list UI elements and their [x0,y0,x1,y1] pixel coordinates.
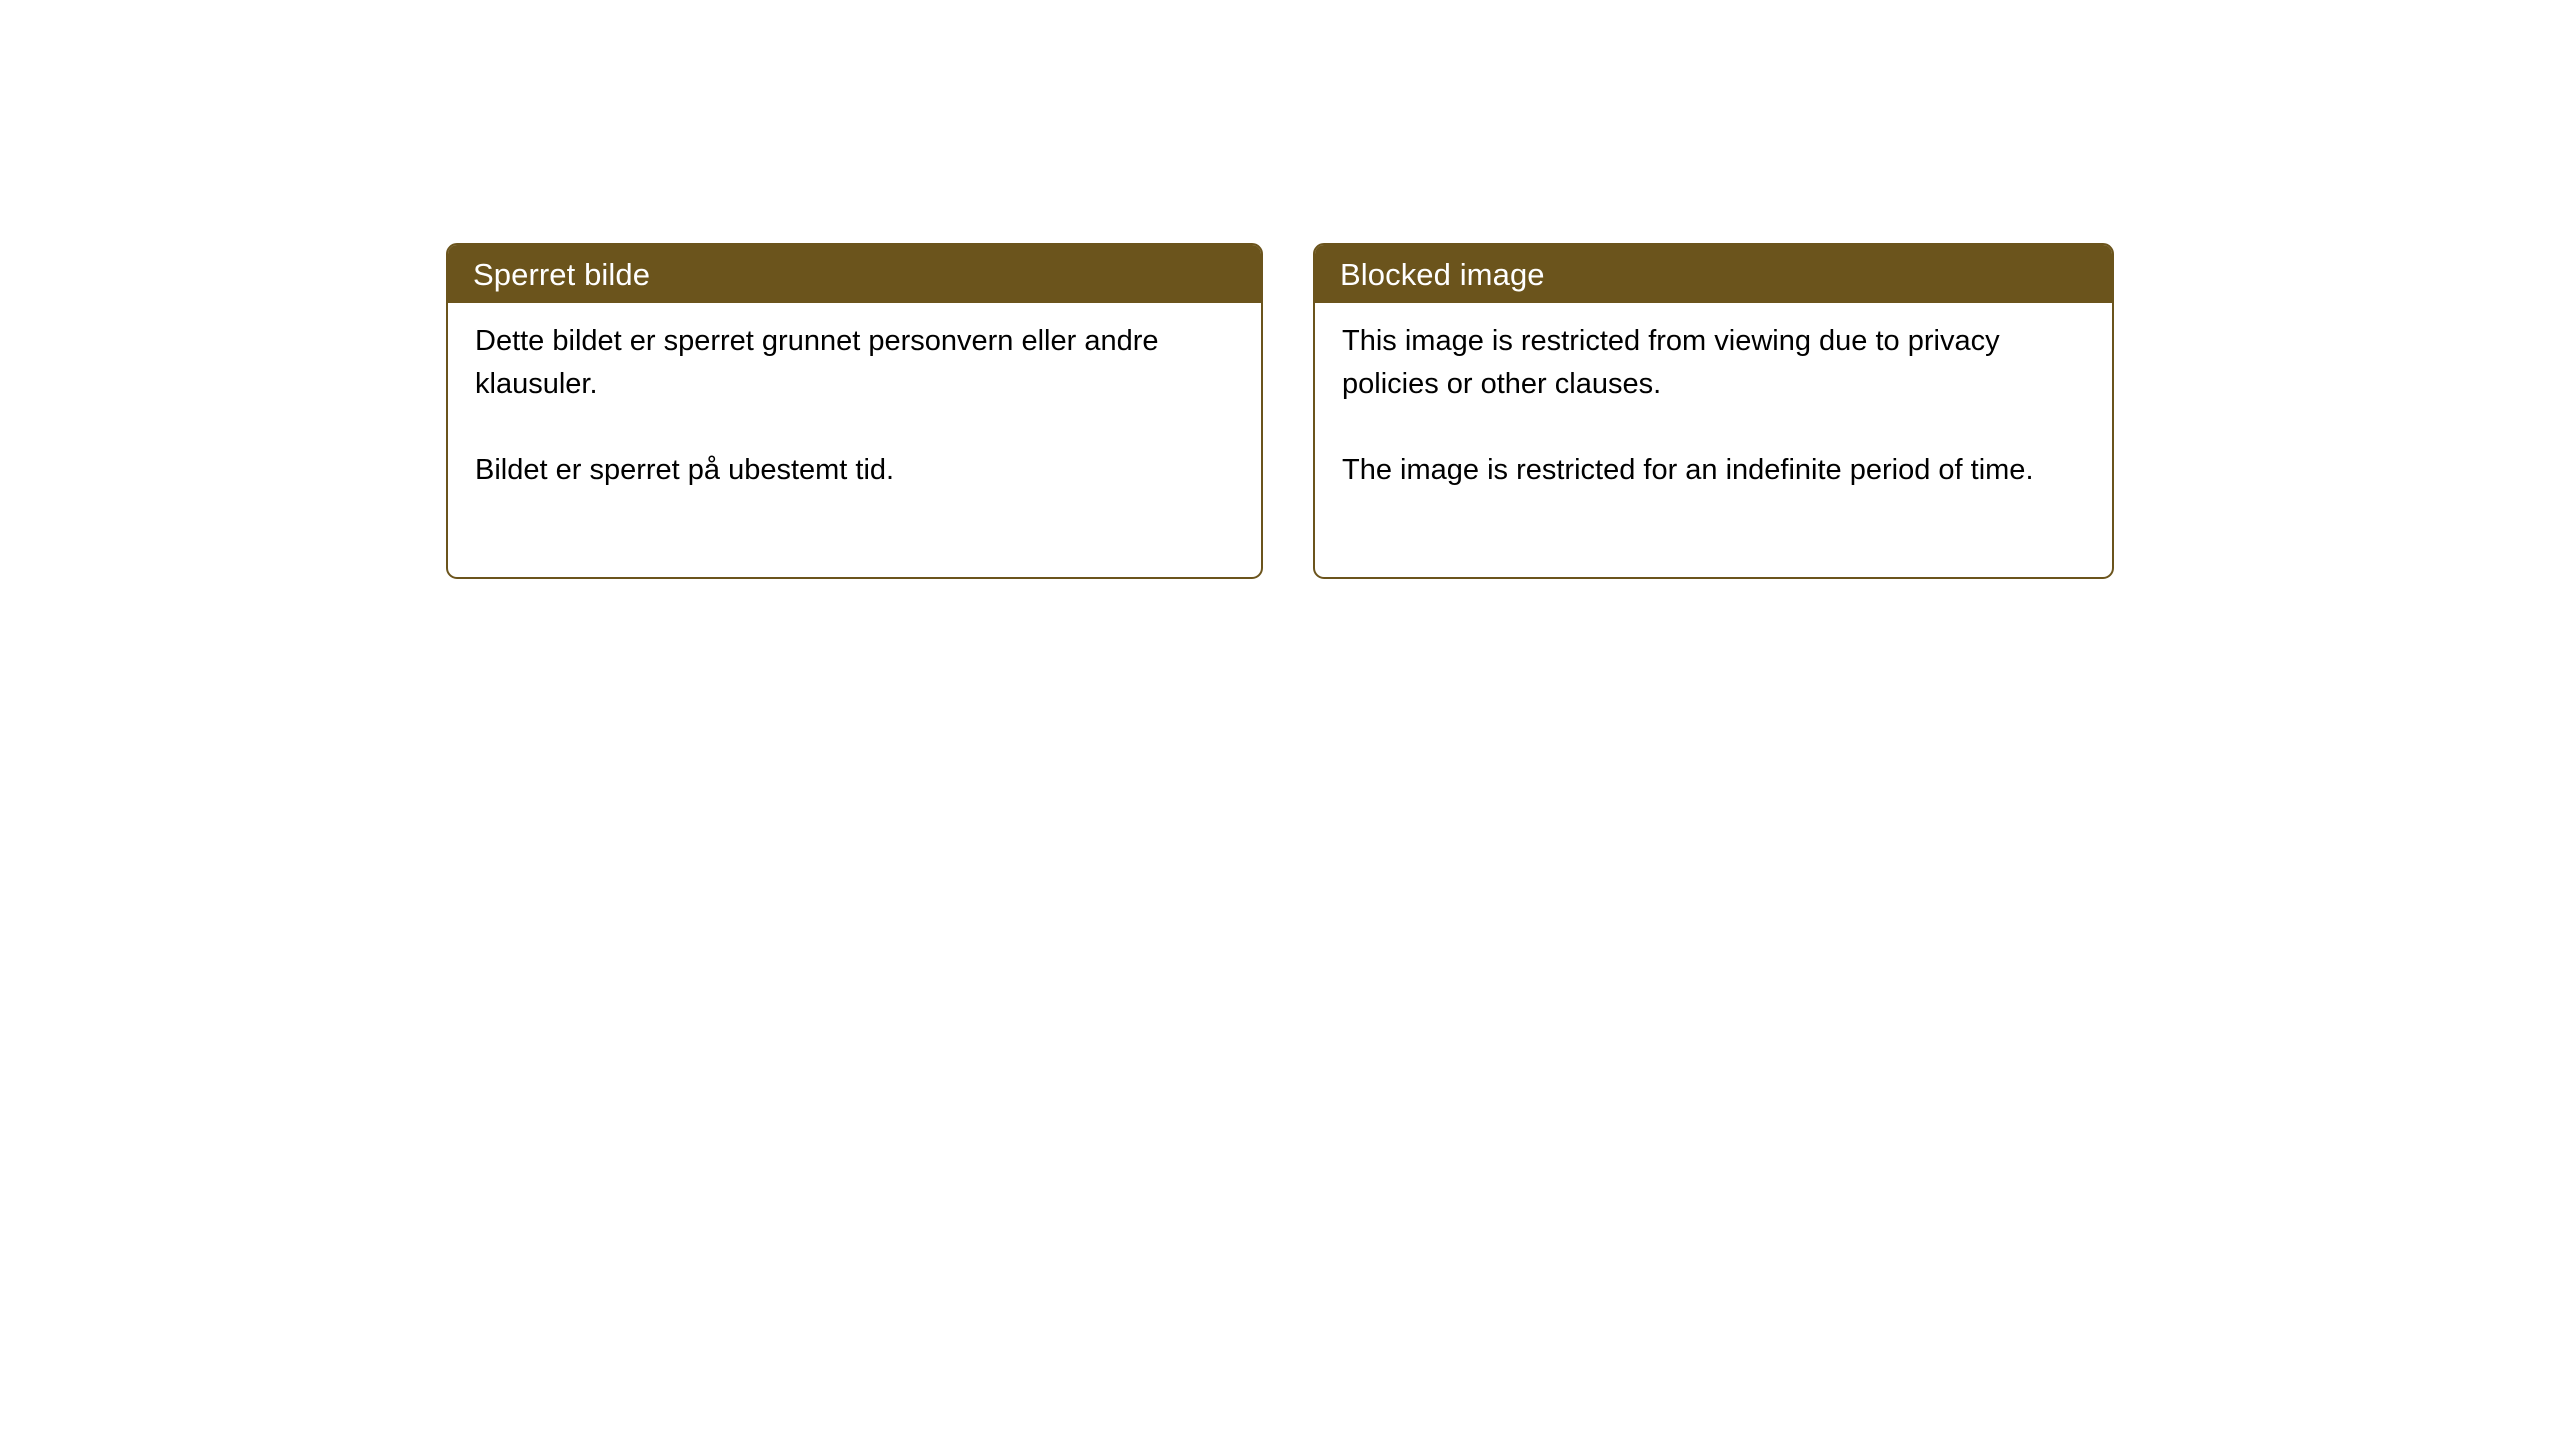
card-header-norwegian: Sperret bilde [448,245,1261,303]
card-paragraph-reason-norwegian: Dette bildet er sperret grunnet personve… [475,320,1235,406]
blocked-image-notice-card-english: Blocked image This image is restricted f… [1313,243,2114,579]
card-title-english: Blocked image [1340,259,1545,290]
blocked-image-notice-card-norwegian: Sperret bilde Dette bildet er sperret gr… [446,243,1263,579]
card-title-norwegian: Sperret bilde [473,259,650,290]
page-canvas: Sperret bilde Dette bildet er sperret gr… [0,0,2560,1440]
card-header-english: Blocked image [1315,245,2112,303]
card-body-norwegian: Dette bildet er sperret grunnet personve… [448,303,1261,492]
card-paragraph-duration-english: The image is restricted for an indefinit… [1342,449,2086,492]
card-paragraph-reason-english: This image is restricted from viewing du… [1342,320,2086,406]
card-paragraph-duration-norwegian: Bildet er sperret på ubestemt tid. [475,449,1235,492]
card-body-english: This image is restricted from viewing du… [1315,303,2112,492]
